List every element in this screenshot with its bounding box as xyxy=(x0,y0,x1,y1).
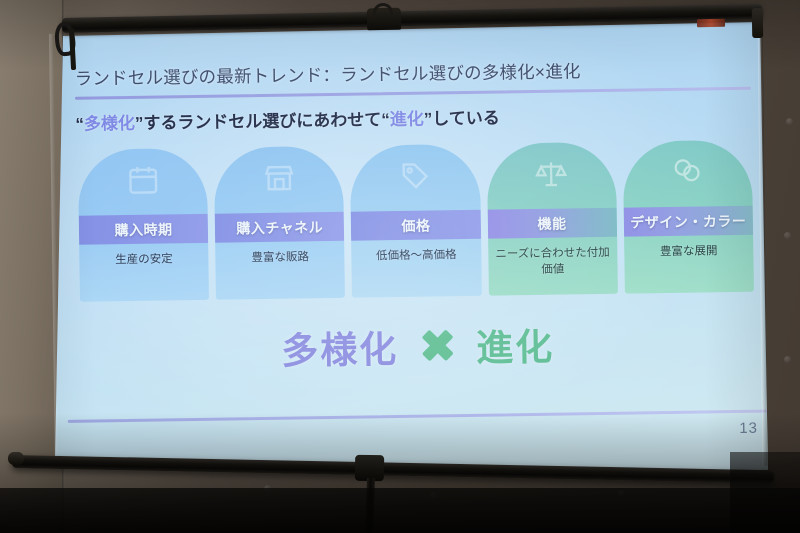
subtitle-highlight-diversification: 多様化 xyxy=(84,114,135,134)
color-palette-icon xyxy=(670,154,705,189)
card-subtext: 低価格〜高価格 xyxy=(356,248,477,266)
trend-card-function[interactable]: 機能 ニーズに合わせた付加価値 xyxy=(486,142,617,296)
card-label: デザイン・カラー xyxy=(630,210,746,232)
screen-left-edge xyxy=(49,34,59,464)
screen-left-hook-stem xyxy=(69,28,76,70)
trend-card-price[interactable]: 価格 低価格〜高価格 xyxy=(350,144,481,298)
summary-term-evolution: 進化 xyxy=(476,317,555,372)
subtitle-quote-open: “ xyxy=(75,115,84,134)
card-label: 購入チャネル xyxy=(236,217,323,238)
summary-term-diversification: 多様化 xyxy=(281,319,399,375)
card-band: 価格 xyxy=(351,210,481,241)
card-subtext: ニーズに合わせた付加価値 xyxy=(492,246,614,280)
trend-card-purchase-timing[interactable]: 購入時期 生産の安定 xyxy=(78,148,209,302)
trend-card-row: 購入時期 生産の安定 購入チャネル xyxy=(78,140,754,302)
projector-room-photo: ランドセル選びの最新トレンド：ランドセル選びの多様化×進化 “多様化”するランド… xyxy=(0,0,800,533)
card-band: 機能 xyxy=(487,208,617,239)
trend-card-design-color[interactable]: デザイン・カラー 豊富な展開 xyxy=(623,140,754,294)
slide-content: ランドセル選びの最新トレンド：ランドセル選びの多様化×進化 “多様化”するランド… xyxy=(60,22,772,468)
screen-center-hook-icon xyxy=(373,3,393,15)
slide-subtitle: “多様化”するランドセル選びにあわせて“進化”している xyxy=(75,103,500,134)
calendar-icon xyxy=(126,163,161,198)
subtitle-tail-text: ”している xyxy=(424,108,500,128)
storefront-icon xyxy=(262,161,297,196)
card-label: 機能 xyxy=(537,213,566,233)
wall-bottom-shadow xyxy=(0,413,800,533)
card-band: 購入時期 xyxy=(79,214,209,245)
card-band: デザイン・カラー xyxy=(623,206,753,237)
screen-brand-label xyxy=(697,19,725,28)
screen-right-end-cap xyxy=(752,8,764,38)
card-label: 価格 xyxy=(401,215,430,235)
balance-scale-icon xyxy=(534,156,569,191)
card-subtext: 豊富な販路 xyxy=(219,250,340,268)
price-tag-icon xyxy=(398,158,433,193)
card-band: 購入チャネル xyxy=(215,212,345,243)
subtitle-highlight-evolution: 進化 xyxy=(390,110,424,130)
card-label: 購入時期 xyxy=(114,219,172,240)
card-subtext: 生産の安定 xyxy=(83,252,204,270)
slide-summary: 多様化 進化 xyxy=(64,313,771,377)
subtitle-middle-text: ”するランドセル選びにあわせて“ xyxy=(135,110,390,133)
multiply-icon xyxy=(420,328,455,363)
card-subtext: 豊富な展開 xyxy=(628,244,749,262)
slide-title: ランドセル選びの最新トレンド：ランドセル選びの多様化×進化 xyxy=(75,58,581,91)
trend-card-purchase-channel[interactable]: 購入チャネル 豊富な販路 xyxy=(214,146,345,300)
